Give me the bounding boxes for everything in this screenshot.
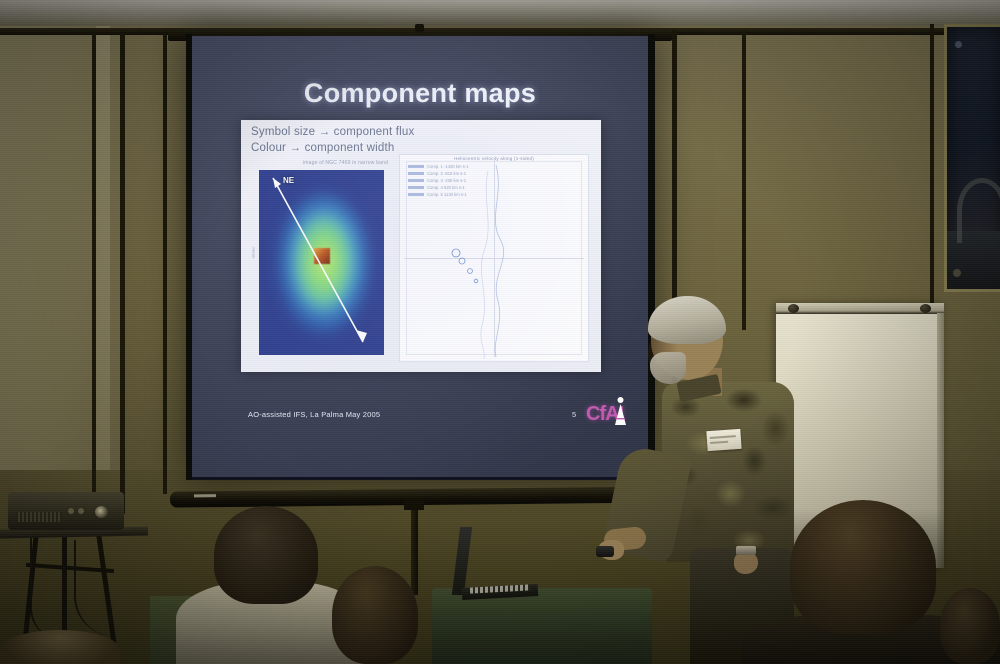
slide-page-number: 5 xyxy=(572,410,576,419)
flipchart-clamp-bar xyxy=(776,303,944,314)
orientation-arrow-icon xyxy=(259,170,384,355)
picture-light-spot xyxy=(955,41,962,48)
screen-right-edge xyxy=(648,34,655,480)
wristwatch xyxy=(736,546,756,555)
wall-seam-1 xyxy=(92,34,96,504)
wall-seam-3 xyxy=(163,34,167,494)
flipchart-knob-left xyxy=(788,304,799,313)
audience-member-front-right xyxy=(790,500,936,634)
framed-wall-picture xyxy=(944,24,1000,292)
slide-bullet-1: Symbol size → component flux xyxy=(251,126,414,138)
wall-seam-6 xyxy=(930,24,934,324)
badge-text-line-2 xyxy=(710,441,728,444)
plot-data-traces xyxy=(400,155,588,361)
cfai-logo: CfAI xyxy=(586,394,636,428)
audience-member-far-right xyxy=(940,588,1000,664)
component-map-heatmap: NE xyxy=(259,170,384,355)
picture-corner-mark xyxy=(953,269,961,277)
presenter-right-hand xyxy=(734,552,758,574)
presentation-remote xyxy=(596,546,614,557)
slide-content-card: Symbol size → component flux Colour → co… xyxy=(241,120,601,372)
wall-seam-2 xyxy=(120,34,125,514)
projector-vent xyxy=(16,512,62,522)
heatmap-axis-label: arcsec xyxy=(250,247,255,259)
velocity-plot: Heliocentric velocity along (1-sided) Co… xyxy=(399,154,589,362)
screen-support-pole xyxy=(411,503,418,595)
wall-seam-5 xyxy=(742,30,746,330)
audience-member-center xyxy=(332,566,418,664)
slide-title: Component maps xyxy=(190,78,650,109)
heatmap-ne-label: NE xyxy=(283,176,294,185)
tower-icon xyxy=(612,396,629,426)
slide-image-caption: image of NGC 7469 in narrow band xyxy=(303,160,388,166)
ceiling xyxy=(0,0,1000,26)
badge-text-line-1 xyxy=(710,435,736,438)
audience-member-front-left xyxy=(214,506,318,604)
slide-footer-text: AO-assisted IFS, La Palma May 2005 xyxy=(248,410,380,419)
screen-roller-mount xyxy=(415,24,424,32)
screen-bar-label-tag xyxy=(194,494,216,497)
name-badge xyxy=(706,429,741,451)
projected-slide: Component maps Symbol size → component f… xyxy=(190,36,650,477)
flipchart-knob-right xyxy=(920,304,931,313)
screen-left-edge xyxy=(186,34,192,480)
projector-lens xyxy=(95,506,108,518)
wall-panel-seam-light xyxy=(96,24,110,494)
projector-control-knob-2 xyxy=(78,508,84,514)
audience-member-bottom-left xyxy=(0,630,120,664)
projector-control-knob-1 xyxy=(68,508,74,514)
screen-pole-bracket xyxy=(404,500,424,510)
slide-bullet-2: Colour → component width xyxy=(251,142,395,154)
presentation-photo: Component maps Symbol size → component f… xyxy=(0,0,1000,664)
presenter-beard xyxy=(650,352,686,384)
picture-arch-shape xyxy=(957,178,1000,243)
projector-cable-1 xyxy=(30,536,62,640)
